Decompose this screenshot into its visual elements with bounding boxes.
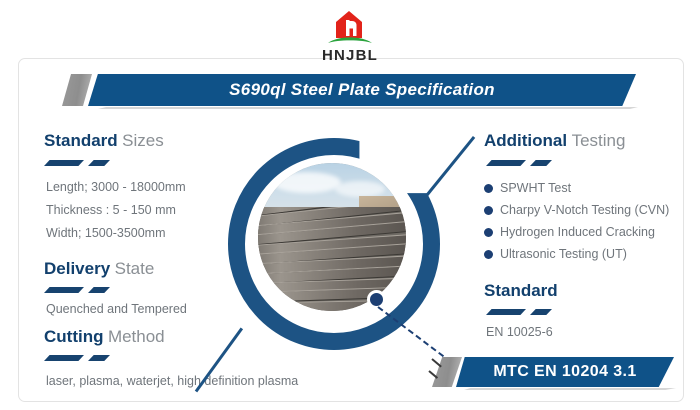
dash-long-icon: [44, 355, 84, 361]
bullet-dot-icon: [484, 250, 493, 259]
brand-logo: HNJBL: [0, 8, 700, 66]
heading-cutting-method-strong: Cutting: [44, 327, 103, 346]
list-item: Charpy V-Notch Testing (CVN): [484, 203, 669, 217]
heading-delivery-state: Delivery State: [44, 259, 154, 279]
divider-dashes-standard: [486, 308, 552, 317]
standard-sizes-line-3: Width; 1500-3500mm: [46, 226, 166, 240]
standard-line-1: EN 10025-6: [486, 325, 553, 339]
dash-short-icon: [88, 287, 110, 293]
dash-short-icon: [88, 355, 110, 361]
brand-name: HNJBL: [0, 47, 700, 64]
heading-additional-testing-light: Testing: [572, 131, 626, 150]
certificate-label: MTC EN 10204 3.1: [493, 363, 636, 381]
dash-short-icon: [530, 160, 552, 166]
title-banner: S690ql Steel Plate Specification: [62, 74, 640, 110]
heading-additional-testing-strong: Additional: [484, 131, 567, 150]
center-media: [228, 138, 433, 343]
bullet-dot-icon: [484, 206, 493, 215]
dash-long-icon: [44, 287, 84, 293]
infographic-root: HNJBL S690ql Steel Plate Specification S…: [0, 0, 700, 410]
heading-additional-testing: Additional Testing: [484, 131, 625, 151]
certificate-underline: [464, 388, 676, 390]
building-logo-icon: [322, 8, 378, 46]
dash-short-icon: [530, 309, 552, 315]
certificate-bar: MTC EN 10204 3.1: [456, 357, 674, 387]
certificate-banner: MTC EN 10204 3.1: [432, 357, 682, 393]
dash-long-icon: [486, 160, 526, 166]
photo-cloud: [273, 172, 341, 193]
photo-marker-dot: [367, 290, 386, 309]
list-item: Ultrasonic Testing (UT): [484, 247, 627, 261]
standard-sizes-line-1: Length; 3000 - 18000mm: [46, 180, 186, 194]
additional-testing-item-2: Charpy V-Notch Testing (CVN): [500, 203, 669, 217]
dash-long-icon: [486, 309, 526, 315]
divider-dashes-delivery-state: [44, 286, 110, 295]
heading-standard: Standard: [484, 281, 558, 301]
heading-delivery-state-light: State: [115, 259, 155, 278]
list-item: Hydrogen Induced Cracking: [484, 225, 655, 239]
dash-long-icon: [44, 160, 84, 166]
additional-testing-item-3: Hydrogen Induced Cracking: [500, 225, 655, 239]
additional-testing-item-4: Ultrasonic Testing (UT): [500, 247, 627, 261]
steel-plate-stack-photo: [258, 163, 406, 311]
divider-dashes-additional-testing: [486, 159, 552, 168]
heading-standard-sizes: Standard Sizes: [44, 131, 164, 151]
title-underline: [98, 107, 638, 109]
divider-dashes-standard-sizes: [44, 159, 110, 168]
cutting-method-line-1: laser, plasma, waterjet, high definition…: [46, 374, 298, 388]
heading-cutting-method: Cutting Method: [44, 327, 165, 347]
title-bar: S690ql Steel Plate Specification: [88, 74, 636, 106]
heading-standard-sizes-strong: Standard: [44, 131, 118, 150]
dash-short-icon: [88, 160, 110, 166]
additional-testing-item-1: SPWHT Test: [500, 181, 571, 195]
heading-cutting-method-light: Method: [108, 327, 165, 346]
heading-delivery-state-strong: Delivery: [44, 259, 110, 278]
list-item: SPWHT Test: [484, 181, 571, 195]
bullet-dot-icon: [484, 228, 493, 237]
bullet-dot-icon: [484, 184, 493, 193]
delivery-state-line-1: Quenched and Tempered: [46, 302, 187, 316]
heading-standard-sizes-light: Sizes: [122, 131, 164, 150]
heading-standard-strong: Standard: [484, 281, 558, 300]
page-title: S690ql Steel Plate Specification: [229, 80, 495, 100]
divider-dashes-cutting-method: [44, 354, 110, 363]
title-accent-shape: [62, 74, 92, 106]
standard-sizes-line-2: Thickness : 5 - 150 mm: [46, 203, 176, 217]
